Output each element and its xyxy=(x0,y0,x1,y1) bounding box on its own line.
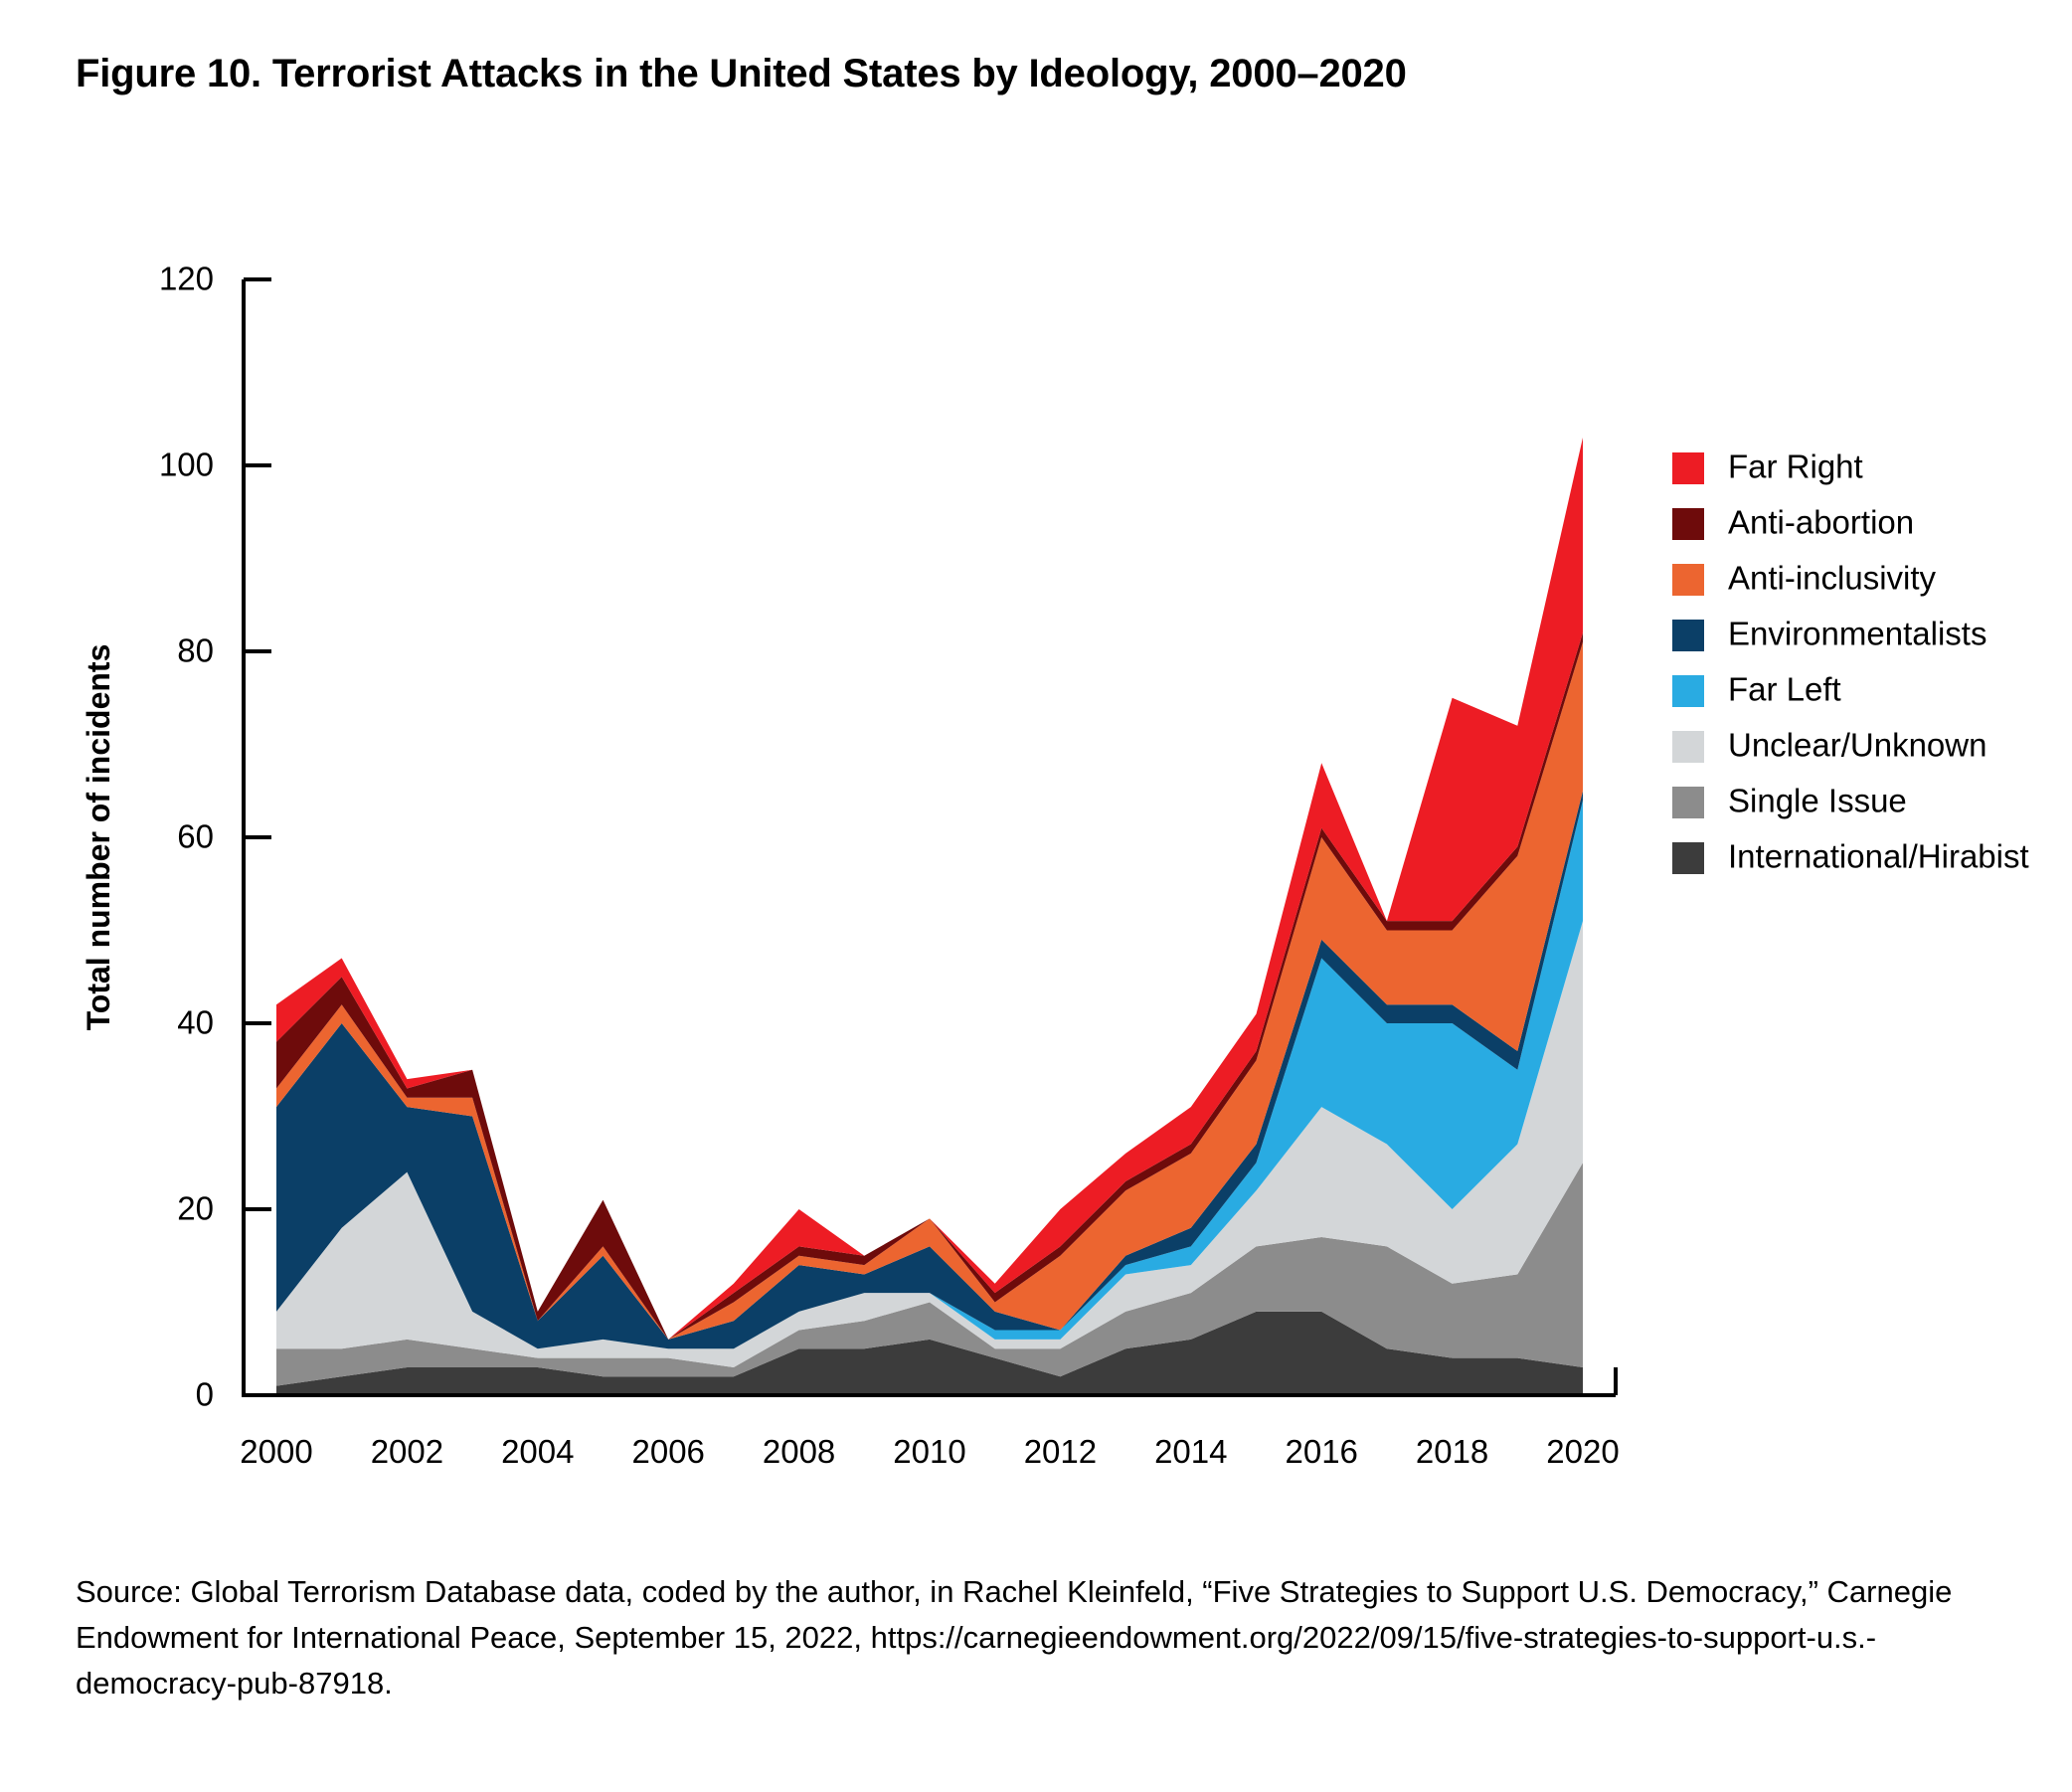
page-title: Figure 10. Terrorist Attacks in the Unit… xyxy=(76,52,1407,96)
chart-area: 020406080100120 200020022004200620082010… xyxy=(0,149,2072,1541)
legend-swatch-anti-inclusivity xyxy=(1672,564,1704,596)
x-tick-label: 2020 xyxy=(1546,1433,1619,1470)
stacked-area-chart: 020406080100120 200020022004200620082010… xyxy=(0,149,2072,1541)
x-tick-label: 2018 xyxy=(1416,1433,1488,1470)
legend-label-far-left: Far Left xyxy=(1728,671,1841,708)
y-tick-label: 80 xyxy=(177,632,214,669)
y-axis-title: Total number of incidents xyxy=(81,644,116,1031)
y-tick-label: 40 xyxy=(177,1004,214,1041)
y-tick-label: 60 xyxy=(177,818,214,855)
x-tick-label: 2002 xyxy=(371,1433,443,1470)
legend-swatch-unclear-unknown xyxy=(1672,731,1704,763)
chart-legend: Far RightAnti-abortionAnti-inclusivityEn… xyxy=(1672,448,2029,875)
legend-label-anti-inclusivity: Anti-inclusivity xyxy=(1728,560,1937,597)
legend-swatch-single-issue xyxy=(1672,787,1704,818)
legend-label-anti-abortion: Anti-abortion xyxy=(1728,504,1914,541)
y-tick-label: 100 xyxy=(159,447,214,483)
legend-swatch-environmentalists xyxy=(1672,620,1704,651)
x-tick-label: 2006 xyxy=(631,1433,704,1470)
legend-swatch-anti-abortion xyxy=(1672,508,1704,540)
x-tick-label: 2016 xyxy=(1285,1433,1357,1470)
legend-label-environmentalists: Environmentalists xyxy=(1728,616,1986,652)
x-tick-label: 2012 xyxy=(1024,1433,1097,1470)
x-tick-label: 2004 xyxy=(501,1433,574,1470)
x-tick-label: 2008 xyxy=(763,1433,835,1470)
legend-label-unclear-unknown: Unclear/Unknown xyxy=(1728,727,1986,764)
legend-swatch-far-right xyxy=(1672,452,1704,484)
x-tick-label: 2000 xyxy=(240,1433,312,1470)
y-tick-label: 120 xyxy=(159,261,214,297)
y-tick-labels: 020406080100120 xyxy=(159,261,271,1413)
x-tick-label: 2010 xyxy=(893,1433,965,1470)
x-tick-labels: 2000200220042006200820102012201420162018… xyxy=(240,1433,1619,1470)
legend-swatch-far-left xyxy=(1672,675,1704,707)
y-axis-title-text: Total number of incidents xyxy=(81,644,116,1031)
area-series-group xyxy=(276,438,1583,1395)
legend-label-far-right: Far Right xyxy=(1728,448,1863,485)
legend-swatch-international-hirabist xyxy=(1672,842,1704,874)
legend-label-international-hirabist: International/Hirabist xyxy=(1728,838,2029,875)
legend-label-single-issue: Single Issue xyxy=(1728,783,1907,819)
source-note: Source: Global Terrorism Database data, … xyxy=(76,1569,2024,1706)
y-tick-label: 20 xyxy=(177,1190,214,1227)
x-tick-label: 2014 xyxy=(1154,1433,1227,1470)
y-tick-label: 0 xyxy=(196,1376,214,1413)
